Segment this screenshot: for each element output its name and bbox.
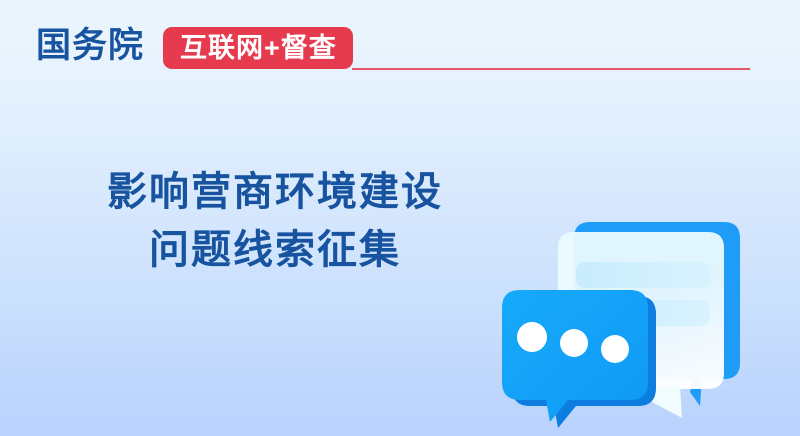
- header-divider-line: [352, 68, 750, 70]
- page-title: 影响营商环境建设 问题线索征集: [60, 163, 490, 279]
- promo-banner: 国务院 互联网+督查 影响营商环境建设 问题线索征集: [0, 0, 800, 436]
- front-bubble-dot-2: [560, 329, 588, 357]
- internet-plus-supervision-badge-label: 互联网+督查: [180, 27, 337, 69]
- chat-bubbles-illustration: [470, 200, 800, 436]
- front-bubble-dot-3: [601, 335, 629, 363]
- banner-header: 国务院 互联网+督查: [0, 0, 800, 100]
- page-title-line-1: 影响营商环境建设: [60, 163, 490, 221]
- page-title-line-2: 问题线索征集: [60, 221, 490, 279]
- back-bubble-bar-1: [576, 262, 710, 288]
- state-council-logo-text: 国务院: [36, 26, 144, 66]
- front-bubble-dot-1: [517, 322, 547, 352]
- internet-plus-supervision-badge: 互联网+督查: [163, 27, 353, 69]
